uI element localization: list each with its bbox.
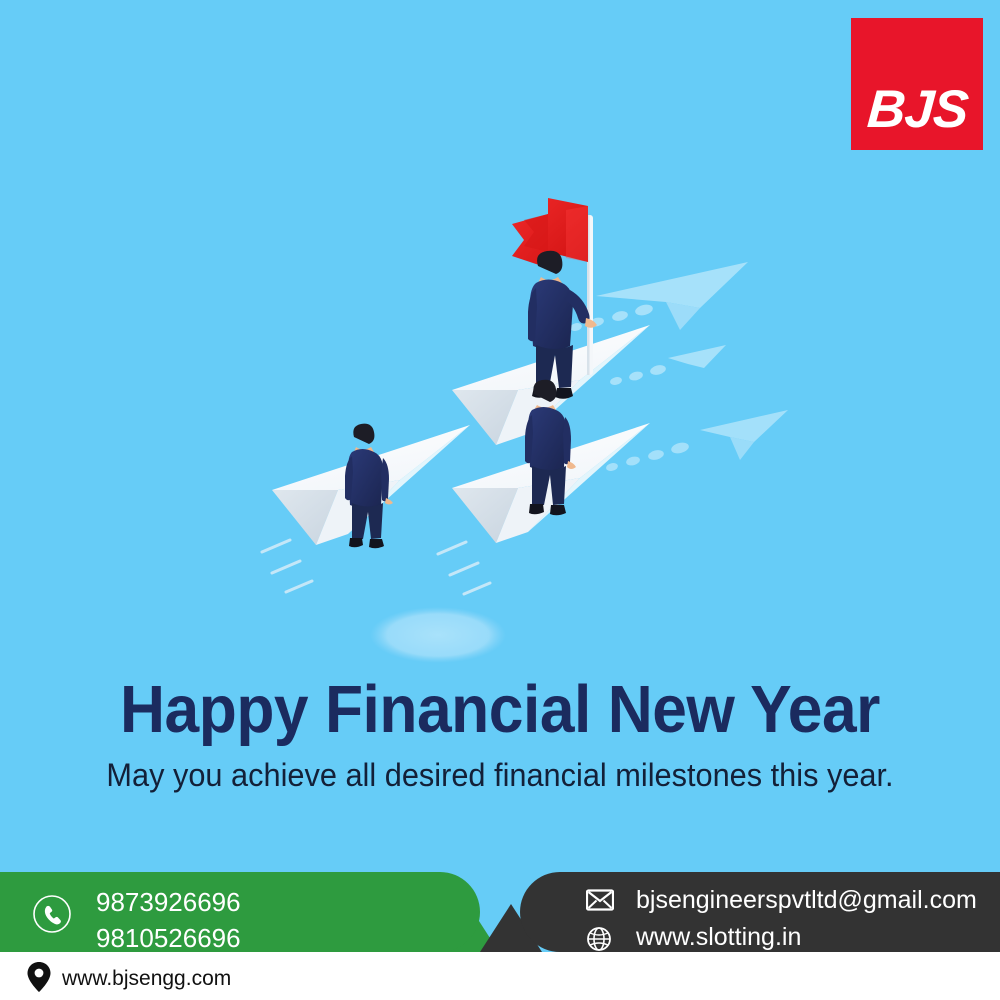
footer: 9873926696 9810526696 bjsengineerspvtltd… <box>0 860 1000 1000</box>
bjs-logo: BJS <box>851 18 983 150</box>
ghost-plane-right-mid <box>605 410 788 472</box>
poster: BJS Happy Financial New Year May you ach… <box>0 0 1000 1000</box>
company-website[interactable]: www.slotting.in <box>636 919 977 956</box>
envelope-icon <box>586 889 614 911</box>
address-bar-website[interactable]: www.bjsengg.com <box>62 964 231 994</box>
contact-details: bjsengineerspvtltd@gmail.com www.slottin… <box>636 882 977 956</box>
phone-number-1[interactable]: 9873926696 <box>96 884 241 920</box>
phone-number-2[interactable]: 9810526696 <box>96 920 241 956</box>
globe-icon <box>586 926 612 952</box>
bjs-logo-text: BJS <box>865 83 970 150</box>
ghost-plane-upper <box>569 262 748 332</box>
location-pin-icon <box>26 961 52 993</box>
ghost-plane-lower <box>609 345 726 386</box>
phone-icon <box>32 894 72 934</box>
page-title: Happy Financial New Year <box>35 676 965 743</box>
email-address[interactable]: bjsengineerspvtltd@gmail.com <box>636 882 977 919</box>
businessman-left <box>345 424 393 549</box>
page-subtitle: May you achieve all desired financial mi… <box>20 757 980 794</box>
illustration <box>0 0 1000 700</box>
floor-glow <box>370 607 506 663</box>
phone-numbers: 9873926696 9810526696 <box>96 884 241 956</box>
